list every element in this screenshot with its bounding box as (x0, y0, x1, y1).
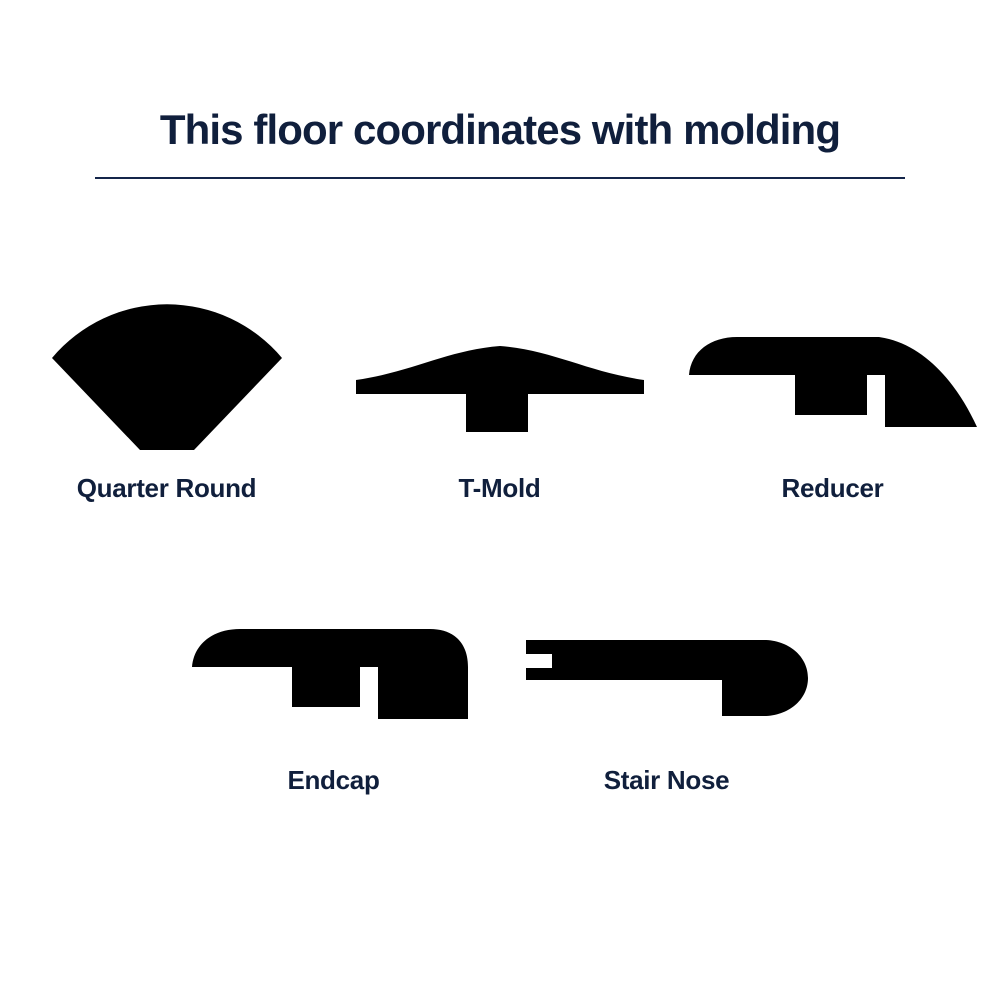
molding-grid: Quarter Round T-Mold Reducer (0, 300, 1000, 796)
t-mold-icon (356, 328, 644, 432)
molding-row-bottom: Endcap Stair Nose (0, 592, 1000, 796)
endcap-figure (170, 592, 490, 752)
stair-nose-figure (507, 592, 827, 752)
molding-item-endcap[interactable]: Endcap (167, 592, 500, 796)
molding-row-top: Quarter Round T-Mold Reducer (0, 300, 1000, 504)
t-mold-figure (340, 300, 660, 460)
molding-label-stair-nose: Stair Nose (604, 764, 730, 796)
reducer-icon (689, 331, 977, 429)
molding-label-t-mold: T-Mold (459, 472, 541, 504)
molding-item-quarter-round[interactable]: Quarter Round (0, 300, 333, 504)
molding-label-quarter-round: Quarter Round (77, 472, 257, 504)
header-divider (95, 177, 905, 179)
quarter-round-figure (7, 300, 327, 460)
endcap-icon (192, 623, 468, 721)
molding-item-t-mold[interactable]: T-Mold (333, 300, 666, 504)
page-title: This floor coordinates with molding (0, 104, 1000, 156)
molding-coordination-panel: This floor coordinates with molding Quar… (0, 0, 1000, 1000)
stair-nose-icon (526, 628, 808, 716)
header: This floor coordinates with molding (0, 104, 1000, 156)
quarter-round-icon (48, 306, 286, 454)
molding-label-reducer: Reducer (782, 472, 884, 504)
molding-item-reducer[interactable]: Reducer (666, 300, 999, 504)
molding-label-endcap: Endcap (287, 764, 379, 796)
reducer-figure (673, 300, 993, 460)
molding-item-stair-nose[interactable]: Stair Nose (500, 592, 833, 796)
